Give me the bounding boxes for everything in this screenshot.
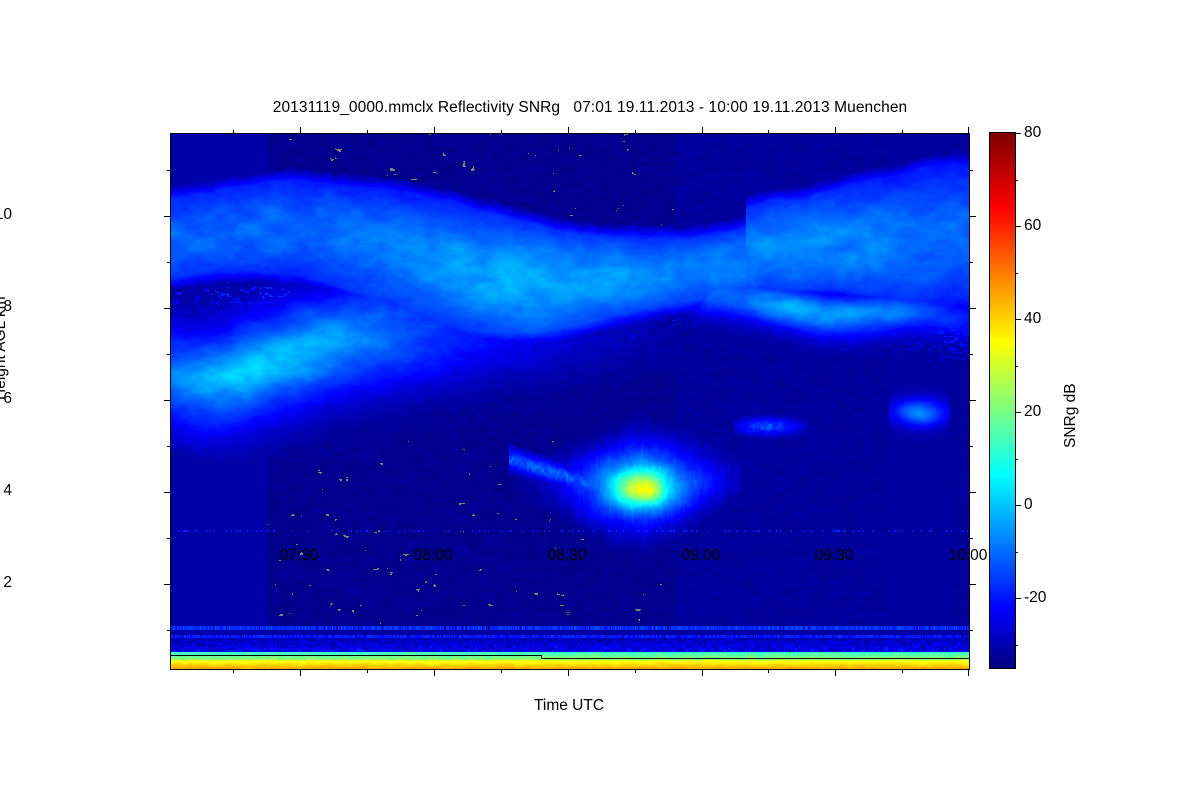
x-axis-tick xyxy=(702,127,703,134)
x-axis-minor-tick xyxy=(635,130,636,134)
x-axis-title: Time UTC xyxy=(0,697,1138,715)
colorbar-tick-label: 0 xyxy=(1024,496,1033,514)
colorbar-tick-label: 40 xyxy=(1024,310,1041,328)
colorbar-tick xyxy=(1015,319,1021,320)
y-axis-tick-left xyxy=(164,216,171,217)
x-axis-tick-label: 07:30 xyxy=(254,547,344,565)
y-axis-tick-right xyxy=(969,584,976,585)
colorbar-tick-label: 20 xyxy=(1024,403,1041,421)
x-axis-tick xyxy=(702,669,703,676)
x-axis-tick xyxy=(434,669,435,676)
y-axis-tick-label: 2 xyxy=(0,574,12,592)
x-axis-tick xyxy=(835,127,836,134)
y-axis-minor-tick xyxy=(167,354,171,355)
x-axis-tick xyxy=(568,127,569,134)
y-axis-minor-tick xyxy=(969,446,973,447)
colorbar-minor-tick xyxy=(1015,552,1018,553)
x-axis-tick xyxy=(968,127,969,134)
y-axis-title: Height AGL km xyxy=(0,296,10,400)
y-axis-minor-tick xyxy=(167,262,171,263)
y-axis-minor-tick xyxy=(969,262,973,263)
y-axis-tick-left xyxy=(164,400,171,401)
y-axis-tick-right xyxy=(969,216,976,217)
colorbar-tick-label: -20 xyxy=(1024,589,1046,607)
colorbar-gradient xyxy=(990,133,1015,668)
x-axis-tick xyxy=(300,669,301,676)
x-axis-minor-tick xyxy=(367,669,368,673)
figure-root: 20131119_0000.mmclx Reflectivity SNRg 07… xyxy=(0,0,1200,800)
page-title: 20131119_0000.mmclx Reflectivity SNRg 07… xyxy=(0,99,1180,117)
radar-heatmap-canvas xyxy=(171,134,969,669)
colorbar-minor-tick xyxy=(1015,273,1018,274)
x-axis-minor-tick xyxy=(635,669,636,673)
y-axis-minor-tick xyxy=(969,170,973,171)
x-axis-minor-tick xyxy=(233,130,234,134)
colorbar-minor-tick xyxy=(1015,366,1018,367)
plot-area xyxy=(170,133,970,670)
y-axis-tick-left xyxy=(164,584,171,585)
colorbar-tick-label: 80 xyxy=(1024,124,1041,142)
y-axis-tick-left xyxy=(164,308,171,309)
colorbar-tick xyxy=(1015,598,1021,599)
x-axis-minor-tick xyxy=(367,130,368,134)
colorbar-tick xyxy=(1015,133,1021,134)
colorbar-tick xyxy=(1015,226,1021,227)
y-axis-minor-tick xyxy=(969,538,973,539)
x-axis-tick-label: 08:30 xyxy=(522,547,612,565)
x-axis-tick-label: 09:30 xyxy=(789,547,879,565)
colorbar-minor-tick xyxy=(1015,459,1018,460)
x-axis-tick xyxy=(300,127,301,134)
y-axis-minor-tick xyxy=(969,354,973,355)
y-axis-tick-right xyxy=(969,308,976,309)
x-axis-minor-tick xyxy=(501,130,502,134)
y-axis-minor-tick xyxy=(167,538,171,539)
colorbar-tick xyxy=(1015,412,1021,413)
y-axis-tick-right xyxy=(969,400,976,401)
y-axis-tick-label: 10 xyxy=(0,206,12,224)
colorbar-minor-tick xyxy=(1015,180,1018,181)
x-axis-minor-tick xyxy=(501,669,502,673)
y-axis-minor-tick xyxy=(167,170,171,171)
colorbar: -20020406080 xyxy=(990,133,1015,668)
y-axis-minor-tick xyxy=(167,630,171,631)
x-axis-tick-label: 08:00 xyxy=(388,547,478,565)
x-axis-tick xyxy=(968,669,969,676)
colorbar-minor-tick xyxy=(1015,645,1018,646)
y-axis-tick-label: 4 xyxy=(0,482,12,500)
colorbar-title: SNRg dB xyxy=(1062,383,1080,448)
colorbar-tick xyxy=(1015,505,1021,506)
y-axis-tick-right xyxy=(969,492,976,493)
x-axis-minor-tick xyxy=(902,130,903,134)
colorbar-tick-label: 60 xyxy=(1024,217,1041,235)
x-axis-tick xyxy=(434,127,435,134)
x-axis-minor-tick xyxy=(768,669,769,673)
x-axis-tick-label: 09:00 xyxy=(656,547,746,565)
x-axis-minor-tick xyxy=(768,130,769,134)
y-axis-tick-left xyxy=(164,492,171,493)
y-axis-minor-tick xyxy=(167,446,171,447)
x-axis-tick xyxy=(835,669,836,676)
y-axis-minor-tick xyxy=(969,630,973,631)
x-axis-minor-tick xyxy=(233,669,234,673)
x-axis-minor-tick xyxy=(902,669,903,673)
x-axis-tick xyxy=(568,669,569,676)
